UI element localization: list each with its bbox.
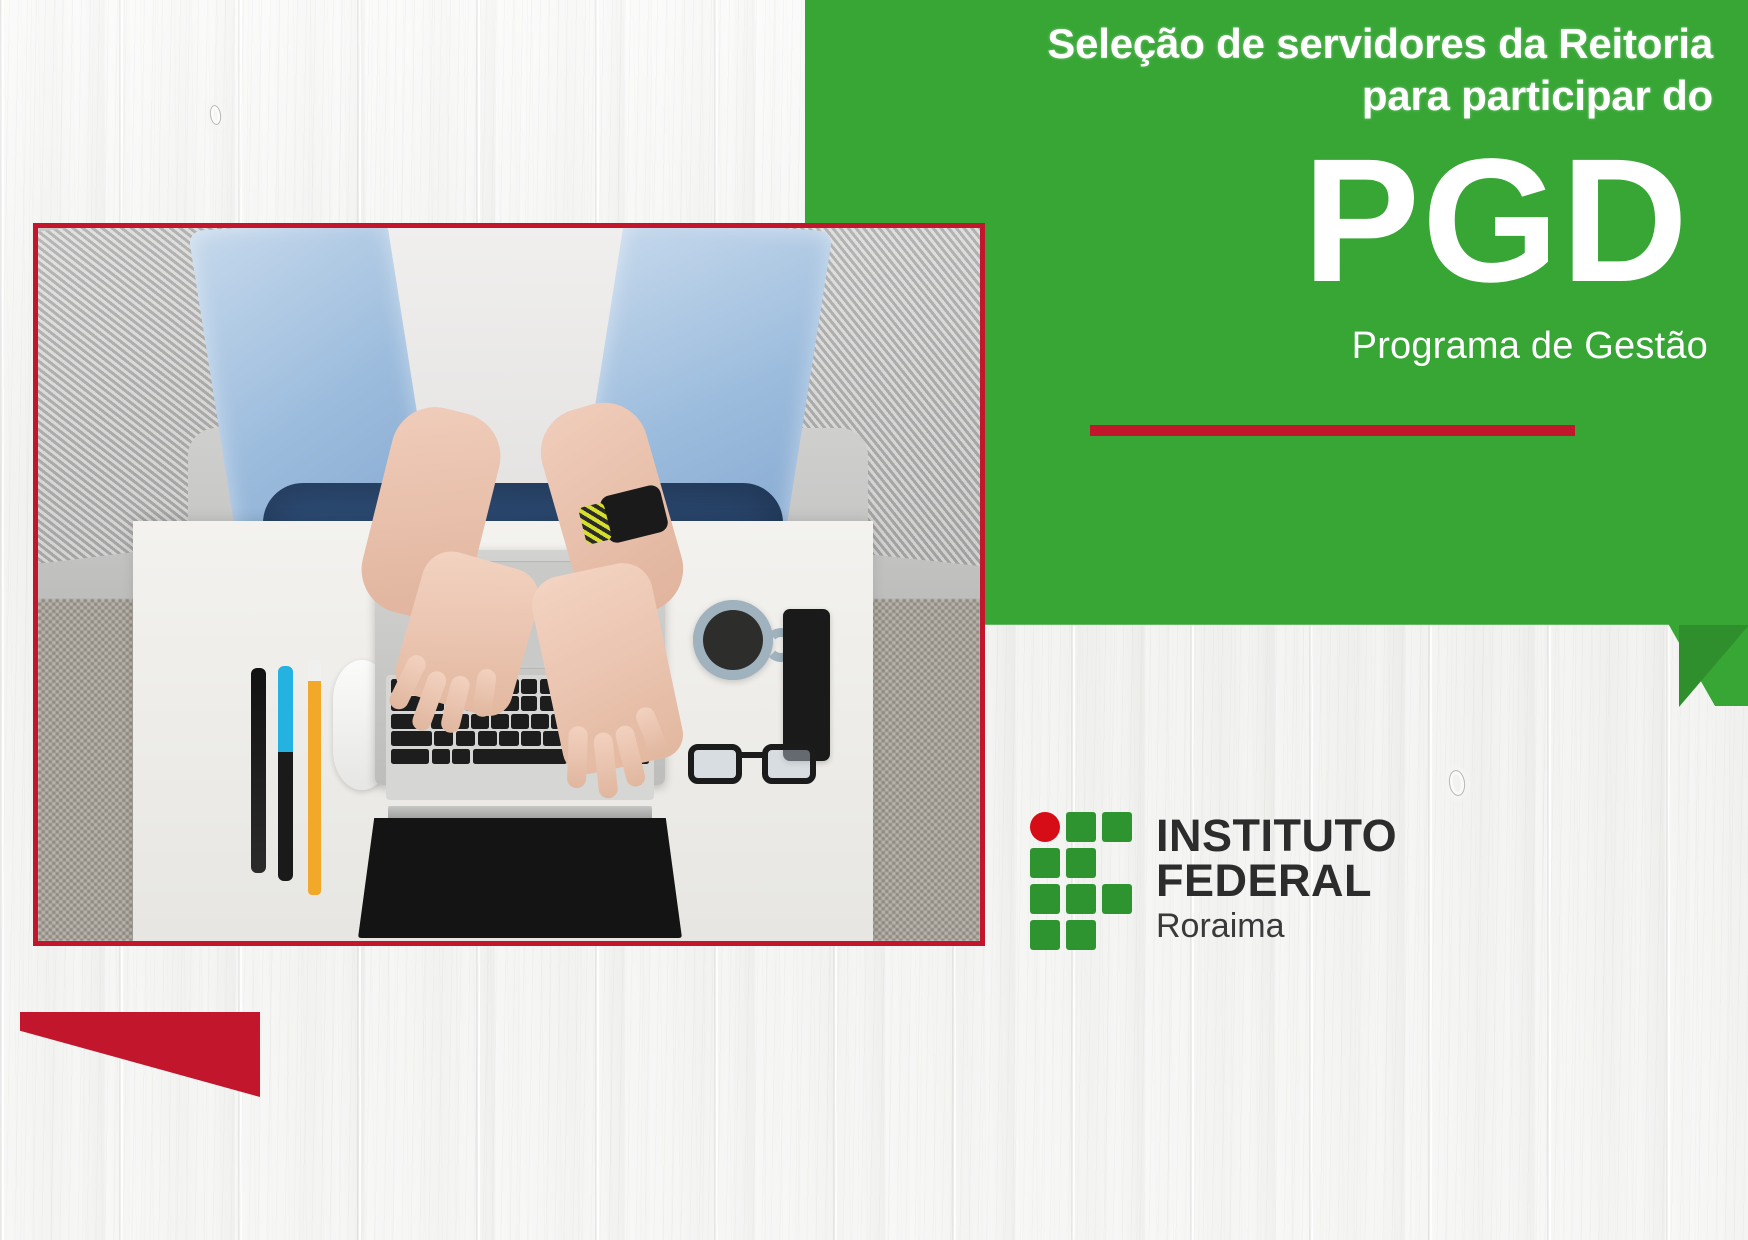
photo-laptop-screen xyxy=(358,818,682,938)
photo-card xyxy=(33,223,985,946)
logo-cell-square xyxy=(1066,920,1096,950)
photo-glasses-bridge xyxy=(740,752,764,758)
acronym-pgd: PGD xyxy=(950,138,1690,305)
photo-lens-left xyxy=(688,744,742,784)
ifrr-logo: INSTITUTO FEDERAL Roraima xyxy=(1030,795,1590,950)
logo-cell-square xyxy=(1030,920,1060,950)
photo-lens-right xyxy=(762,744,816,784)
logo-cell-circle-icon xyxy=(1030,812,1060,842)
page-title: Seleção de servidores da Reitoria para p… xyxy=(973,18,1713,121)
subtitle-programa-de-gestao: Programa de Gestão xyxy=(968,325,1708,368)
logo-cell-square xyxy=(1030,848,1060,878)
logo-cell-square xyxy=(1066,812,1096,842)
logo-cell-square xyxy=(1030,884,1060,914)
logo-cell-square xyxy=(1102,884,1132,914)
photo-pen-blue xyxy=(278,666,293,881)
photo-coffee-mug xyxy=(693,600,773,680)
ifrr-logo-text: INSTITUTO FEDERAL Roraima xyxy=(1156,813,1590,950)
logo-cell-empty xyxy=(1102,920,1132,950)
red-divider-rule xyxy=(1090,425,1575,436)
poster-canvas: Seleção de servidores da Reitoria para p… xyxy=(0,0,1748,1240)
photo-pencil xyxy=(308,660,321,895)
ifrr-logo-mark-icon xyxy=(1030,812,1132,950)
photo-pen-black xyxy=(251,668,266,873)
logo-institution-name: INSTITUTO FEDERAL xyxy=(1156,813,1590,903)
logo-cell-square xyxy=(1066,884,1096,914)
photo-laptop-hinge xyxy=(388,806,652,820)
photo-eyeglasses xyxy=(688,738,816,790)
logo-cell-empty xyxy=(1102,848,1132,878)
logo-cell-square xyxy=(1066,848,1096,878)
logo-campus-name: Roraima xyxy=(1156,907,1590,946)
workspace-photo xyxy=(38,228,980,941)
logo-cell-square xyxy=(1102,812,1132,842)
